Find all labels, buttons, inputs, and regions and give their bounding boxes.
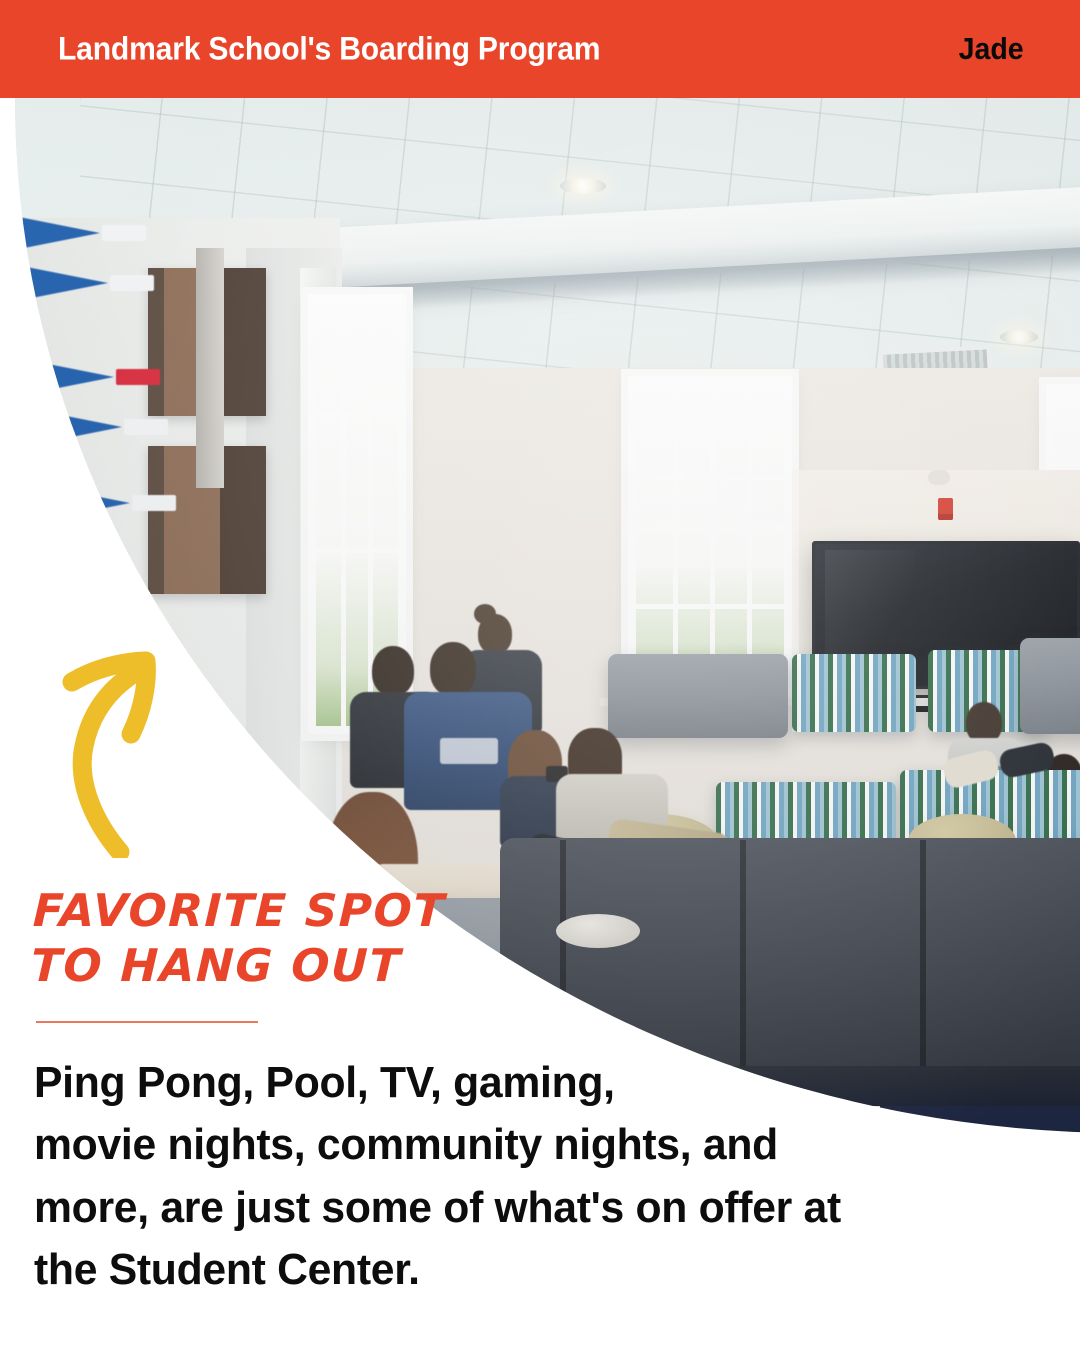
pennant-icon bbox=[28, 360, 114, 394]
sweatshirt-logo bbox=[440, 738, 498, 764]
body-line-3: more, are just some of what's on offer a… bbox=[34, 1177, 965, 1239]
kicker-headline: FAVORITE SPOT TO HANG OUT bbox=[30, 884, 554, 994]
gray-sofa-back bbox=[1020, 638, 1080, 734]
panel-rail bbox=[196, 248, 224, 488]
window bbox=[628, 376, 792, 694]
pennant-icon bbox=[36, 410, 122, 444]
pennant-icon bbox=[44, 486, 130, 520]
divider-rule bbox=[36, 1021, 258, 1023]
curved-up-arrow-icon bbox=[48, 628, 213, 858]
gray-sofa-back bbox=[608, 654, 788, 738]
side-table bbox=[556, 914, 640, 948]
recessed-light-icon bbox=[560, 178, 606, 194]
pennant-icon bbox=[14, 216, 100, 250]
pennant-icon bbox=[22, 266, 108, 300]
recessed-light-icon bbox=[1000, 330, 1038, 344]
body-copy: Ping Pong, Pool, TV, gaming, movie night… bbox=[34, 1052, 965, 1302]
student-head bbox=[372, 646, 414, 696]
page-title: Landmark School's Boarding Program bbox=[58, 31, 600, 68]
student-name-label: Jade bbox=[959, 31, 1024, 67]
kicker-line-2: TO HANG OUT bbox=[30, 939, 552, 994]
fire-alarm-icon bbox=[938, 498, 953, 520]
body-line-2: movie nights, community nights, and bbox=[34, 1114, 965, 1176]
smoke-detector-icon bbox=[928, 470, 950, 485]
student-head bbox=[430, 642, 476, 696]
patterned-armchair bbox=[792, 654, 916, 732]
hair-bun bbox=[474, 604, 496, 624]
body-line-4: the Student Center. bbox=[34, 1239, 965, 1301]
body-line-1: Ping Pong, Pool, TV, gaming, bbox=[34, 1052, 965, 1114]
kicker-line-1: FAVORITE SPOT bbox=[32, 884, 554, 939]
social-card: Landmark School's Boarding Program Jade bbox=[0, 0, 1080, 1350]
header-bar: Landmark School's Boarding Program Jade bbox=[0, 0, 1080, 98]
